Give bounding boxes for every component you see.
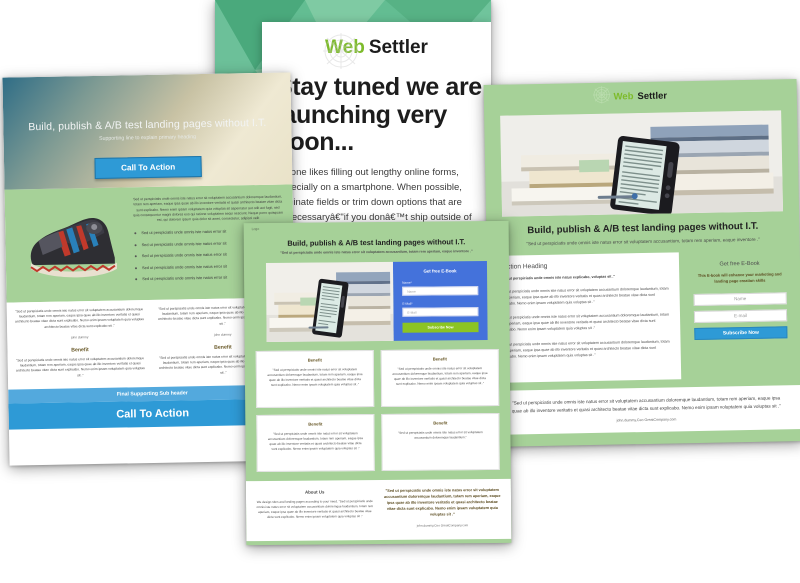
coming-soon-body: No one likes filling out lengthy online … [262,157,491,232]
section-quote: "Sed ut perspiciatis unde omnis iste nat… [499,274,669,281]
brand-settler-text: Settler [637,90,667,102]
hero-subheading: Supporting line to explain primary headi… [4,132,292,143]
benefit-card: Benefit "Sed ut perspiciatis unde omnis … [381,349,499,407]
name-input[interactable]: Name [694,292,787,306]
about-us-text: We design sites and landing pages accord… [256,499,374,520]
name-label: Name* [402,280,478,285]
hero-heading: Build, publish & A/B test landing pages … [3,116,291,133]
feature-paragraph: Sed ut perspiciatis unde omnis iste natu… [133,195,283,224]
testimonial: "Sed ut perspiciatis unde omnis iste nat… [13,307,147,340]
hero-call-to-action-button[interactable]: Call To Action [94,156,201,179]
benefit-title: Benefit [266,357,364,363]
section-paragraph: "Sed ut perspiciatis unde omnis iste nat… [501,339,671,360]
footer-quote-author: john.dummy,Ceo GreatCompany.com [384,523,502,528]
coming-soon-heading: Stay tuned we are launching very soon... [262,68,491,157]
benefit-text: "Sed ut perspiciatis unde omnis iste nat… [266,431,364,452]
page-subheading: "Sed ut perspiciatis unde omnis iste nat… [244,246,509,255]
benefit-block: Benefit "Sed ut perspiciatis unde omnis … [13,346,147,379]
benefit-card: Benefit "Sed ut perspiciatis unde omnis … [256,414,374,472]
coming-soon-sheet: Web Settler Stay tuned we are launching … [262,22,491,231]
benefit-title: Benefit [13,346,146,354]
ereader-on-books-photo [266,262,394,342]
name-input[interactable]: Name [402,286,478,296]
ereader-on-books-photo [500,110,783,216]
benefit-card: Benefit "Sed ut perspiciatis unde omnis … [381,413,499,471]
brand-settler-text: Settler [369,37,428,59]
footer-quote-block: "Sed ut perspiciatis unde omnis iste nat… [383,488,501,528]
form-title: Get free E-Book [693,260,786,268]
spider-web-icon [588,85,616,107]
email-input[interactable]: E-mail [694,309,787,323]
benefit-text: "Sed ut perspiciatis unde omnis iste nat… [391,366,489,387]
hero-section: Build, publish & A/B test landing pages … [2,72,292,189]
section-heading: Section Heading [499,261,669,271]
hero-row: Get free E-Book Name* Name E-Mail* E-Mai… [266,261,488,342]
footer-quote: "Sed ut perspiciatis unde omnis iste nat… [508,395,785,415]
ebook-center-page-card[interactable]: Logo Build, publish & A/B test landing p… [244,221,512,545]
brand-logo[interactable]: Web Settler [262,28,491,68]
benefit-text: "Sed ut perspiciatis unde omnis iste nat… [391,430,489,441]
benefit-title: Benefit [266,421,364,427]
section-panel: Section Heading "Sed ut perspiciatis und… [487,252,681,383]
footer-quote: "Sed ut perspiciatis unde omnis iste nat… [383,488,501,518]
email-input[interactable]: E-Mail [402,307,478,317]
about-us-title: About Us [256,489,374,495]
ebook-signup-form: Get free E-Book Name* Name E-Mail* E-Mai… [393,261,488,341]
screenshot-stage: Web Settler Stay tuned we are launching … [0,0,800,583]
spider-web-icon [312,30,370,78]
benefit-title: Benefit [391,420,489,426]
ebook-green-page-card[interactable]: Web Settler [484,79,800,447]
ebook-signup-form: Get free E-Book This E-book will enhance… [679,250,800,380]
footer-section: About Us We design sites and landing pag… [246,479,512,542]
form-subtitle: This E-book will enhance your marketing … [693,271,786,285]
section-paragraph: "Sed ut perspiciatis unde omnis iste nat… [500,313,670,334]
form-title: Get free E-Book [402,268,478,274]
brand-web-text: Web [613,91,633,102]
testimonial-quote: "Sed ut perspiciatis unde omnis iste nat… [13,307,146,330]
about-us-block: About Us We design sites and landing pag… [256,489,374,529]
subscribe-now-button[interactable]: Subscribe Now [402,322,478,333]
shoe-photo [15,195,127,290]
benefit-text: "Sed ut perspiciatis unde omnis iste nat… [266,367,364,388]
email-label: E-Mail* [402,301,478,306]
testimonial-author: john dummy [13,334,146,340]
footer-quote-section: "Sed ut perspiciatis unde omnis iste nat… [489,385,800,435]
benefits-grid: Benefit "Sed ut perspiciatis unde omnis … [256,349,500,472]
subscribe-now-button[interactable]: Subscribe Now [694,326,787,340]
benefit-text: "Sed ut perspiciatis unde omnis iste nat… [14,356,147,379]
benefit-title: Benefit [391,356,489,362]
brand-logo[interactable]: Web Settler [484,82,797,110]
benefit-card: Benefit "Sed ut perspiciatis unde omnis … [256,350,374,408]
content-row: Section Heading "Sed ut perspiciatis und… [487,250,800,383]
footer-quote-author: john.dummy,Ceo GreatCompany.com [508,415,785,424]
section-paragraph: "Sed ut perspiciatis unde omnis iste nat… [499,287,669,308]
